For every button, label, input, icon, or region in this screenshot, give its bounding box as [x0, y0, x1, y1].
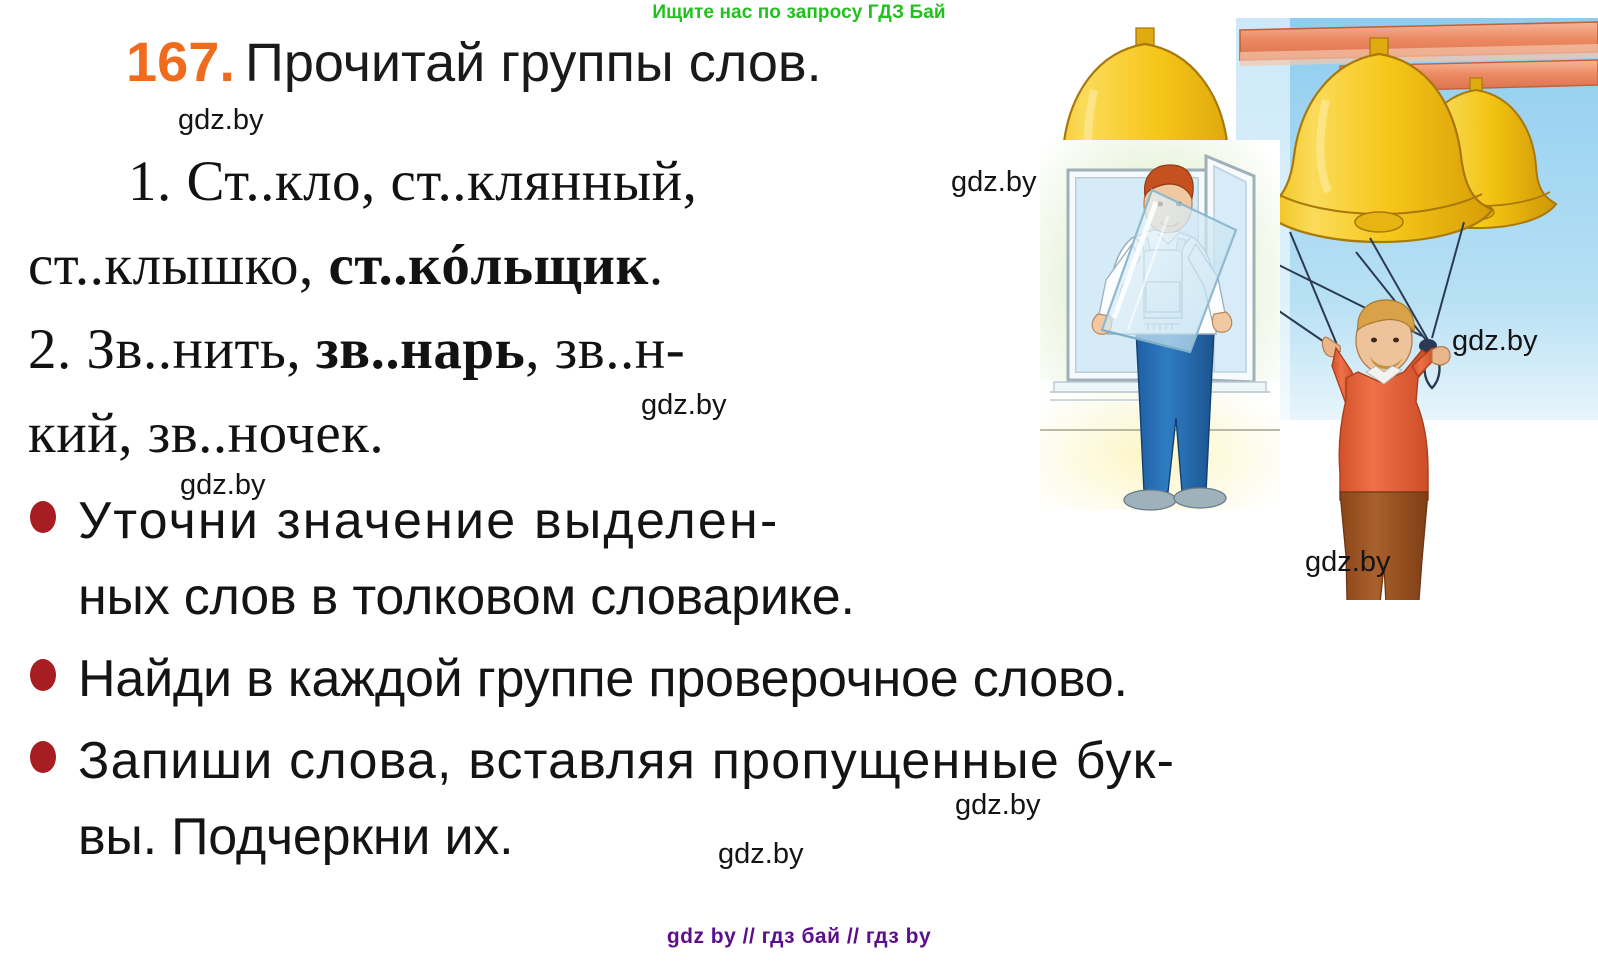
word-group-line-1: 1. Ст..кло, ст..клянный,	[28, 140, 1038, 224]
task-line-2: ных слов в толковом словарике.	[78, 559, 855, 635]
task-line-1: Запиши слова, вставляя пропущенные бук-	[78, 732, 1175, 790]
plain-text-after: , зв..н-	[525, 318, 685, 381]
footer-links: gdz by // гдз бай // гдз by	[0, 925, 1598, 949]
bullet-dot-icon	[30, 741, 56, 773]
word-group-line-4: кий, зв..ночек.	[28, 392, 1038, 476]
list-item: Найди в каждой группе проверочное слово.	[30, 641, 1570, 717]
word-group-line-3: 2. Зв..нить, зв..нарь, зв..н-	[28, 308, 1038, 392]
watermark: gdz.by	[180, 469, 265, 502]
plain-text-before: ст..клышко,	[28, 234, 329, 297]
plain-text-after: .	[649, 234, 664, 297]
watermark: gdz.by	[718, 838, 803, 871]
task-list: Уточни значение выделен- ных слов в толк…	[30, 483, 1570, 881]
word-group-line-2: ст..клышко, ст..кóльщик.	[28, 224, 1038, 308]
worksheet-page: Ищите нас по запросу ГДЗ Бай	[0, 0, 1598, 975]
watermark: gdz.by	[178, 104, 263, 137]
bold-word-zvonar: зв..нарь	[316, 318, 525, 381]
exercise-number: 167.	[126, 30, 235, 93]
page-title: Прочитай группы слов.	[245, 33, 822, 93]
watermark: gdz.by	[1305, 546, 1390, 579]
watermark: gdz.by	[951, 166, 1036, 199]
plain-text-before: 2. Зв..нить,	[28, 318, 316, 381]
bold-word-stekolshchik: ст..кóльщик	[329, 234, 649, 297]
exercise-headline: 167.Прочитай группы слов.	[126, 29, 822, 94]
task-line-1: Найди в каждой группе проверочное слово.	[78, 650, 1128, 708]
watermark: gdz.by	[955, 789, 1040, 822]
glazier-scene	[1040, 140, 1280, 510]
bullet-dot-icon	[30, 501, 56, 533]
watermark: gdz.by	[1452, 325, 1537, 358]
task-text: Найди в каждой группе проверочное слово.	[78, 641, 1128, 717]
task-text: Уточни значение выделен- ных слов в толк…	[78, 483, 855, 635]
bullet-dot-icon	[30, 659, 56, 691]
watermark: gdz.by	[641, 389, 726, 422]
word-groups: 1. Ст..кло, ст..клянный, ст..клышко, ст.…	[28, 140, 1038, 476]
